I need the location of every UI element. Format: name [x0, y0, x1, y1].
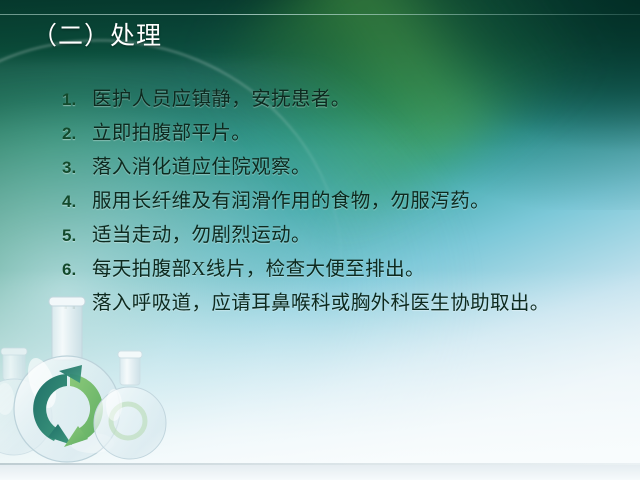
- background-table-surface: [0, 465, 640, 480]
- list-item: 2. 立即拍腹部平片。: [62, 120, 622, 154]
- list-item: 5. 适当走动，勿剧烈运动。: [62, 222, 622, 256]
- list-item-text: 医护人员应镇静，安抚患者。: [92, 86, 351, 114]
- list-item-text: 服用长纤维及有润滑作用的食物，勿服泻药。: [92, 188, 490, 216]
- list-item-text: 立即拍腹部平片。: [92, 120, 251, 148]
- list-item-text: 落入消化道应住院观察。: [92, 154, 311, 182]
- slide-title: （二）处理: [32, 21, 162, 53]
- list-item-number: 1.: [62, 90, 92, 110]
- list-item: 3. 落入消化道应住院观察。: [62, 154, 622, 188]
- list-item-number: 6.: [62, 260, 92, 280]
- treatment-step-list: 1. 医护人员应镇静，安抚患者。 2. 立即拍腹部平片。 3. 落入消化道应住院…: [62, 86, 622, 324]
- list-item-text: 适当走动，勿剧烈运动。: [92, 222, 311, 250]
- list-item: 7. 落入呼吸道，应请耳鼻喉科或胸外科医生协助取出。: [62, 290, 622, 324]
- list-item-number: 4.: [62, 192, 92, 212]
- list-item-number: 2.: [62, 124, 92, 144]
- list-item-text: 落入呼吸道，应请耳鼻喉科或胸外科医生协助取出。: [92, 290, 550, 318]
- list-item-text: 每天拍腹部X线片，检查大便至排出。: [92, 256, 425, 284]
- slide-canvas: （二）处理 1. 医护人员应镇静，安抚患者。 2. 立即拍腹部平片。 3. 落入…: [0, 0, 640, 480]
- list-item: 4. 服用长纤维及有润滑作用的食物，勿服泻药。: [62, 188, 622, 222]
- list-item: 6. 每天拍腹部X线片，检查大便至排出。: [62, 256, 622, 290]
- list-item-number: 3.: [62, 158, 92, 178]
- list-item-number: 7.: [62, 294, 92, 314]
- list-item-number: 5.: [62, 226, 92, 246]
- list-item: 1. 医护人员应镇静，安抚患者。: [62, 86, 622, 120]
- header-divider-rule: [0, 14, 640, 15]
